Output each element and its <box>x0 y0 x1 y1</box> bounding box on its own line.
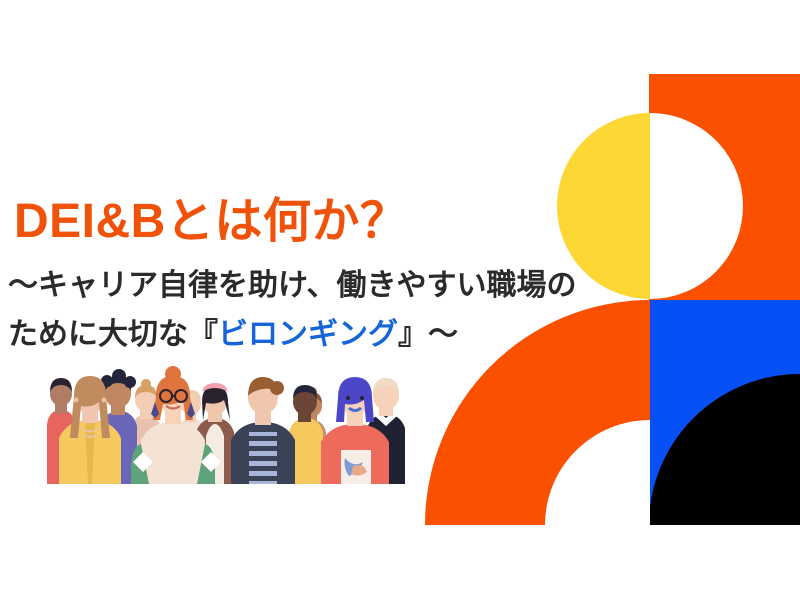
split-circle-shape <box>557 113 743 299</box>
subtitle-line-2-prefix: ために大切な『 <box>8 318 218 351</box>
subtitle-line-2-suffix: 』〜 <box>398 318 458 351</box>
slide-canvas: DEI&Bとは何か？ 〜キャリア自律を助け、働きやすい職場の ために大切な『ビロ… <box>0 0 800 600</box>
subtitle-highlight-belonging: ビロンギング <box>218 318 398 351</box>
diverse-people-illustration <box>45 366 415 496</box>
subtitle-line-2: ために大切な『ビロンギング』〜 <box>8 311 577 360</box>
people-illustration-svg <box>45 366 415 496</box>
page-title: DEI&Bとは何か？ <box>14 196 408 249</box>
page-subtitle: 〜キャリア自律を助け、働きやすい職場の ために大切な『ビロンギング』〜 <box>8 262 577 359</box>
subtitle-line-1: 〜キャリア自律を助け、働きやすい職場の <box>8 262 577 311</box>
